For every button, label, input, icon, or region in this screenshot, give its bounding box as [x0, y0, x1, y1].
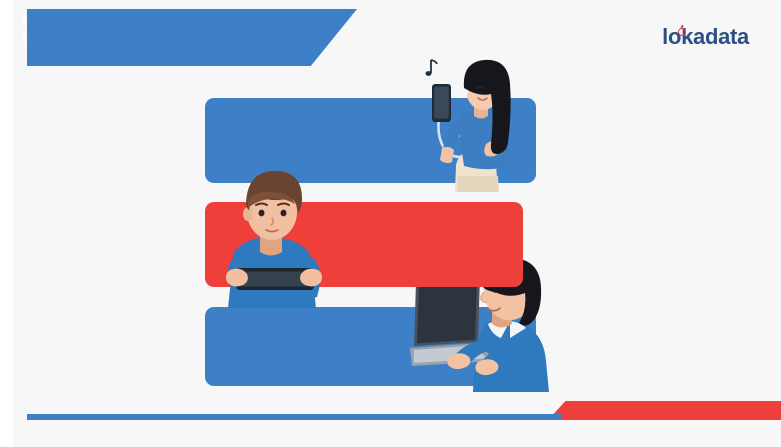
woman-listening-music-illustration	[398, 52, 544, 192]
logo-text: lokadata	[662, 24, 749, 50]
infographic-canvas: Universe Audience Musik, OTT Video, dan …	[0, 0, 781, 447]
left-margin-strip	[0, 0, 13, 447]
title-banner	[27, 9, 357, 66]
music-note-icon	[426, 60, 438, 76]
boy-playing-mobile-game-illustration	[208, 160, 340, 308]
footer-red-bar	[548, 401, 781, 420]
lokadata-logo: lokadata	[662, 24, 749, 50]
footer-blue-bar	[27, 414, 562, 420]
logo-accent-icon	[678, 28, 686, 36]
